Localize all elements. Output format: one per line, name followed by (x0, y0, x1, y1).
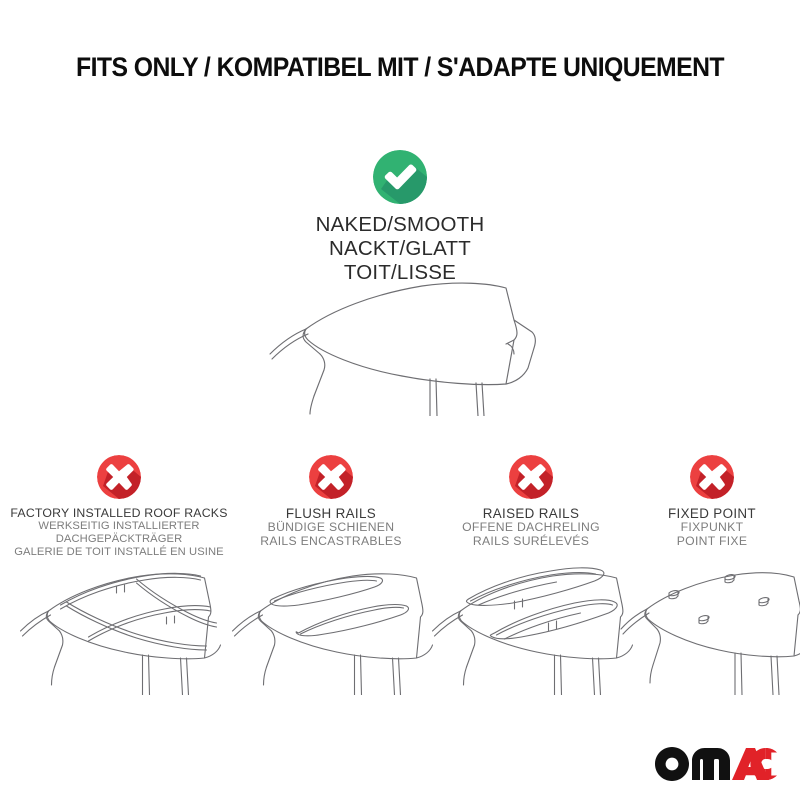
rejected-label-de: FIXPUNKT (628, 521, 796, 535)
rejected-label-en: FIXED POINT (628, 506, 796, 521)
fixed-point-roof-illustration (617, 555, 800, 695)
x-circle-icon (309, 455, 353, 499)
page-title: FITS ONLY / KOMPATIBEL MIT / S'ADAPTE UN… (26, 52, 774, 83)
approved-label-group: NAKED/SMOOTH NACKT/GLATT TOIT/LISSE (0, 213, 800, 286)
rejected-label-en: FACTORY INSTALLED ROOF RACKS (8, 506, 230, 520)
rejected-label-fr: POINT FIXE (628, 535, 796, 549)
rejected-label-de-1: WERKSEITIG INSTALLIERTER (8, 520, 230, 533)
x-circle-icon (690, 455, 734, 499)
factory-roof-rack-illustration (17, 555, 222, 695)
rejected-label-de: BÜNDIGE SCHIENEN (228, 521, 434, 535)
rejected-label-group: FACTORY INSTALLED ROOF RACKS WERKSEITIG … (8, 506, 230, 558)
rejected-item-factory-roof-rack: FACTORY INSTALLED ROOF RACKS WERKSEITIG … (8, 455, 230, 558)
rejected-label-group: FIXED POINT FIXPUNKT POINT FIXE (628, 506, 796, 549)
rejected-label-de-2: DACHGEPÄCKTRÄGER (8, 533, 230, 546)
x-circle-icon (97, 455, 141, 499)
rejected-section: FACTORY INSTALLED ROOF RACKS WERKSEITIG … (0, 455, 800, 695)
rejected-label-group: FLUSH RAILS BÜNDIGE SCHIENEN RAILS ENCAS… (228, 506, 434, 549)
approved-section: NAKED/SMOOTH NACKT/GLATT TOIT/LISSE (0, 150, 800, 286)
rejected-label-en: FLUSH RAILS (228, 506, 434, 521)
flush-rails-roof-illustration (229, 555, 434, 695)
rejected-label-en: RAISED RAILS (428, 506, 634, 521)
rejected-label-fr: RAILS SURÉLEVÉS (428, 535, 634, 549)
x-circle-icon (509, 455, 553, 499)
raised-rails-roof-illustration (429, 555, 634, 695)
rejected-item-flush-rails: FLUSH RAILS BÜNDIGE SCHIENEN RAILS ENCAS… (228, 455, 434, 549)
rejected-item-raised-rails: RAISED RAILS OFFENE DACHRELING RAILS SUR… (428, 455, 634, 549)
rejected-label-fr: RAILS ENCASTRABLES (228, 535, 434, 549)
rejected-item-fixed-point: FIXED POINT FIXPUNKT POINT FIXE (628, 455, 796, 549)
naked-smooth-roof-illustration (262, 276, 562, 416)
rejected-label-group: RAISED RAILS OFFENE DACHRELING RAILS SUR… (428, 506, 634, 549)
check-circle-icon (373, 150, 427, 204)
approved-label-en: NAKED/SMOOTH (0, 213, 800, 237)
approved-label-de: NACKT/GLATT (0, 237, 800, 261)
omac-logo (654, 746, 778, 782)
